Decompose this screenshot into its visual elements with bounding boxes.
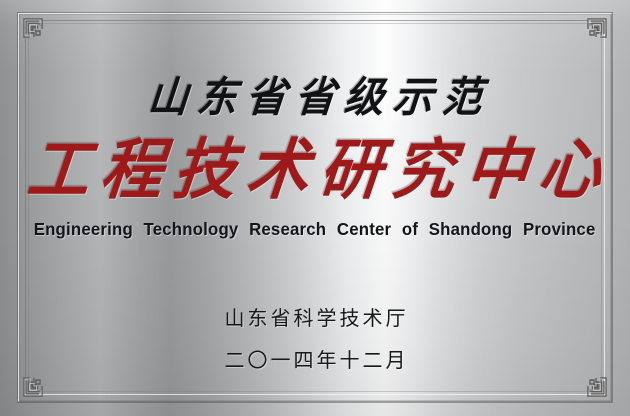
award-plaque: 山东省省级示范 工程技术研究中心 Engineering Technology …	[0, 0, 630, 416]
plaque-content: 山东省省级示范 工程技术研究中心 Engineering Technology …	[0, 0, 630, 416]
plaque-issue-date: 二〇一四年十二月	[222, 344, 409, 373]
plaque-issuer: 山东省科学技术厅	[222, 302, 409, 331]
plaque-title-chinese: 山东省省级示范	[137, 77, 493, 119]
plaque-title-main: 工程技术研究中心	[14, 137, 616, 203]
plaque-subtitle-english: Engineering Technology Research Center o…	[34, 219, 596, 240]
plaque-issuer-block: 山东省科学技术厅 二〇一四年十二月	[222, 302, 409, 373]
